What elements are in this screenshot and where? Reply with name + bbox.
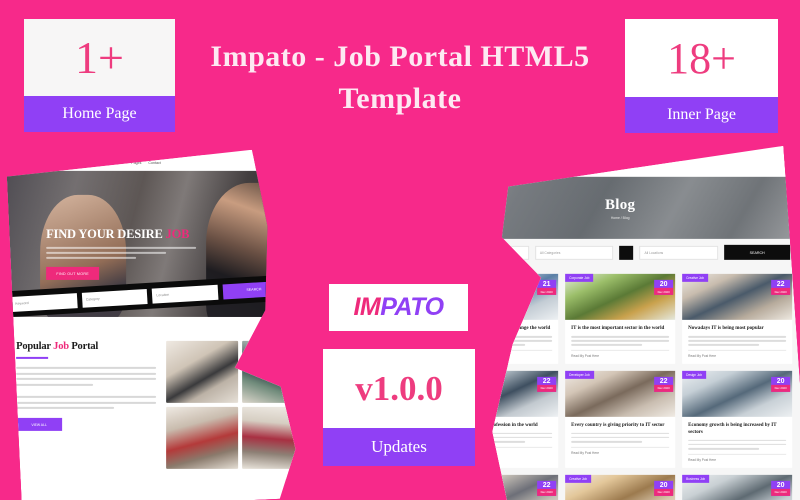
blog-card-date-month: Dec 2020 <box>654 488 673 495</box>
badge-home-page: 1+ Home Page <box>24 19 175 132</box>
badge-home-page-caption: Home Page <box>24 96 175 132</box>
photo-thumbnail <box>166 341 238 403</box>
text-line <box>16 396 156 398</box>
home-logo-part2: PATO <box>72 158 94 168</box>
blog-card-title[interactable]: Economy growth is being increased by IT … <box>688 422 786 436</box>
blog-card-body: Every country is giving priority to IT s… <box>565 417 675 455</box>
popular-title-part1: Popular <box>16 341 51 352</box>
blog-card-thumbnail: Business Job21Dec 2020 <box>454 274 558 320</box>
blog-card-category-tag[interactable]: Finance Job <box>454 474 473 482</box>
blog-hero-banner: Blog Home / Blog <box>454 177 800 239</box>
text-line <box>454 336 552 338</box>
blog-nav-item-5[interactable]: Contact <box>585 167 597 171</box>
home-mockup-navbar: Home Finance Blog IMPATO Curriculum Page… <box>6 155 322 171</box>
blog-card-date-day: 20 <box>654 480 673 488</box>
blog-card-date-day: 21 <box>537 280 556 288</box>
text-line <box>571 433 669 435</box>
text-line <box>571 441 642 443</box>
blog-card-date-month: Dec 2020 <box>654 288 673 295</box>
photo-thumbnail <box>166 407 238 469</box>
text-line <box>688 440 786 442</box>
blog-logo-part1: IM <box>500 164 509 174</box>
home-hero-search-bar: Keyword Category Location SEARCH <box>6 275 291 317</box>
blog-filter-location[interactable]: All Locations <box>640 245 719 259</box>
blog-card-body: Nowadays IT is being most popularRead My… <box>682 320 792 358</box>
page-title-line-1: Impato - Job Portal HTML5 <box>210 40 589 73</box>
popular-section-title: Popular Job Portal <box>16 341 156 352</box>
blog-card-date-day: 20 <box>771 377 790 385</box>
popular-section-photo-grid <box>166 341 314 469</box>
blog-card[interactable]: Corporate Job20Dec 2020IT is the most im… <box>565 274 675 364</box>
text-line <box>46 247 196 249</box>
popular-section-button[interactable]: VIEW ALL <box>16 418 62 431</box>
blog-card-thumbnail: Business Job20Dec 2020 <box>682 474 792 500</box>
popular-title-part2: Portal <box>71 341 98 352</box>
blog-card-category-tag[interactable]: Business Job <box>454 274 475 282</box>
blog-card-category-tag[interactable]: Design Job <box>682 371 706 379</box>
home-mockup-logo: IMPATO <box>63 158 94 168</box>
blog-card-title[interactable]: Nowadays IT is being most popular <box>688 325 786 332</box>
text-line <box>571 344 642 346</box>
blog-card-thumbnail: Developer Job22Dec 2020 <box>565 371 675 417</box>
blog-card-date-month: Dec 2020 <box>771 385 790 392</box>
text-line <box>571 336 669 338</box>
blog-card-date-month: Dec 2020 <box>771 488 790 495</box>
text-line <box>688 444 786 446</box>
text-line <box>16 407 114 409</box>
home-hero-title-main: FIND YOUR DESIRE <box>46 227 163 241</box>
blog-card-date-badge: 22Dec 2020 <box>771 280 790 295</box>
blog-card-date-day: 22 <box>654 377 673 385</box>
text-line <box>16 367 156 369</box>
blog-card-date-day: 20 <box>771 480 790 488</box>
blog-card-date-day: 22 <box>771 280 790 288</box>
blog-mockup-navbar: Home Jobs Blog IMPATO Curriculum Pages C… <box>454 161 800 177</box>
blog-card-read-more-link[interactable]: Read My Post Here <box>571 446 669 454</box>
blog-card[interactable]: Finance Job22Dec 2020IT skills for the f… <box>454 474 558 500</box>
badge-inner-page-count: 18+ <box>625 19 778 97</box>
badge-version: v1.0.0 Updates <box>323 349 475 466</box>
text-line <box>16 378 156 380</box>
text-line <box>454 344 525 346</box>
home-nav-item-2[interactable]: Blog <box>43 161 50 165</box>
blog-card-category-tag[interactable]: Creative Job <box>565 474 591 482</box>
popular-job-portal-section: Popular Job Portal VIEW ALL <box>6 317 322 479</box>
blog-card-body: Economy growth is being increased by IT … <box>682 417 792 462</box>
text-line <box>16 372 156 374</box>
blog-card-read-more-link[interactable]: Read My Post Here <box>571 350 669 358</box>
blog-card-date-badge: 20Dec 2020 <box>771 480 790 495</box>
blog-card-date-month: Dec 2020 <box>537 488 556 495</box>
blog-card-date-month: Dec 2020 <box>654 385 673 392</box>
blog-card[interactable]: Creative Job20Dec 2020Teamwork builds be… <box>565 474 675 500</box>
home-search-button[interactable]: SEARCH <box>223 280 286 299</box>
blog-card-title[interactable]: The next generation IT will change the w… <box>454 325 552 332</box>
blog-card-date-day: 22 <box>537 377 556 385</box>
blog-card-date-badge: 20Dec 2020 <box>654 480 673 495</box>
home-hero-title-highlight: JOB <box>166 227 190 241</box>
home-page-mockup: Home Finance Blog IMPATO Curriculum Page… <box>6 147 322 500</box>
blog-logo-part2: PATO <box>509 164 531 174</box>
blog-card-body: IT is the most important sector in the w… <box>565 320 675 358</box>
blog-card-date-badge: 20Dec 2020 <box>654 280 673 295</box>
home-search-field-location[interactable]: Location <box>152 284 218 303</box>
blog-filter-icon-button[interactable] <box>620 245 634 259</box>
text-line <box>571 340 669 342</box>
blog-card-date-month: Dec 2020 <box>537 288 556 295</box>
blog-nav-item-0[interactable]: Home <box>454 167 458 171</box>
page-title: Impato - Job Portal HTML5 Template <box>180 36 620 120</box>
home-nav-item-0[interactable]: Home <box>6 161 16 165</box>
brand-logo-badge: IMPATO <box>329 284 468 331</box>
home-hero-description <box>46 247 196 259</box>
blog-card-date-month: Dec 2020 <box>537 385 556 392</box>
blog-nav-item-1[interactable]: Jobs <box>465 167 473 171</box>
blog-filter-search-button[interactable]: SEARCH <box>724 245 790 260</box>
blog-card-thumbnail: Creative Job22Dec 2020 <box>682 274 792 320</box>
brand-logo-part2: PATO <box>380 293 443 321</box>
blog-card-title[interactable]: IT is the most important sector in the w… <box>571 325 669 332</box>
blog-nav-item-3[interactable]: Curriculum <box>544 167 561 171</box>
badge-inner-page-caption: Inner Page <box>625 97 778 133</box>
blog-page-mockup: Home Jobs Blog IMPATO Curriculum Pages C… <box>454 146 800 500</box>
home-hero-cta-button[interactable]: FIND OUT MORE <box>46 267 99 280</box>
text-line <box>688 336 786 338</box>
text-line <box>46 257 136 259</box>
blog-filter-bar: Search Keyword All Categories All Locati… <box>454 239 800 266</box>
badge-version-caption: Updates <box>323 428 475 466</box>
home-hero-banner: FIND YOUR DESIRE JOB FIND OUT MORE Keywo… <box>6 171 322 317</box>
blog-card-thumbnail: Design Job20Dec 2020 <box>682 371 792 417</box>
home-search-field-category[interactable]: Category <box>81 288 147 307</box>
blog-card-thumbnail: Creative Job20Dec 2020 <box>565 474 675 500</box>
blog-card-category-tag[interactable]: Developer Job <box>565 371 594 379</box>
text-line <box>688 340 786 342</box>
badge-home-page-count: 1+ <box>24 19 175 96</box>
blog-card-read-more-link[interactable]: Read My Post Here <box>688 453 786 461</box>
blog-card-read-more-link[interactable]: Read My Post Here <box>688 350 786 358</box>
blog-hero-title: Blog <box>605 196 635 213</box>
blog-card-date-month: Dec 2020 <box>771 288 790 295</box>
text-line <box>688 448 759 450</box>
blog-card-date-day: 20 <box>654 280 673 288</box>
blog-card-category-tag[interactable]: Corporate Job <box>565 274 593 282</box>
blog-card[interactable]: Developer Job22Dec 2020Every country is … <box>565 371 675 468</box>
text-line <box>16 401 156 403</box>
blog-card[interactable]: Design Job20Dec 2020Economy growth is be… <box>682 371 792 468</box>
home-nav-item-3[interactable]: Curriculum <box>107 161 124 165</box>
text-line <box>688 344 759 346</box>
blog-card-category-tag[interactable]: Creative Job <box>682 274 708 282</box>
blog-card-category-tag[interactable]: Business Job <box>682 474 709 482</box>
blog-card-thumbnail: Corporate Job20Dec 2020 <box>565 274 675 320</box>
photo-thumbnail <box>242 407 314 469</box>
page-title-line-2: Template <box>339 82 462 115</box>
text-line <box>16 383 93 385</box>
blog-card-date-day: 22 <box>537 480 556 488</box>
blog-card-date-badge: 21Dec 2020 <box>537 280 556 295</box>
home-nav-item-4[interactable]: Pages <box>131 161 141 165</box>
brand-logo: IMPATO <box>353 293 443 322</box>
home-nav-item-1[interactable]: Finance <box>23 161 36 165</box>
badge-inner-page: 18+ Inner Page <box>625 19 778 133</box>
blog-card-title[interactable]: Every country is giving priority to IT s… <box>571 422 669 429</box>
blog-card-date-badge: 22Dec 2020 <box>654 377 673 392</box>
blog-card[interactable]: Creative Job22Dec 2020Nowadays IT is bei… <box>682 274 792 364</box>
blog-card-thumbnail: Finance Job22Dec 2020 <box>454 474 558 500</box>
brand-logo-part1: IM <box>353 293 380 321</box>
blog-card-grid: Business Job21Dec 2020The next generatio… <box>454 266 800 500</box>
popular-section-paragraph-2 <box>16 396 156 409</box>
blog-breadcrumb: Home / Blog <box>611 215 630 219</box>
photo-thumbnail <box>242 341 314 403</box>
popular-title-highlight: Job <box>53 341 69 352</box>
blog-card-date-badge: 20Dec 2020 <box>771 377 790 392</box>
blog-filter-category[interactable]: All Categories <box>535 245 614 259</box>
home-logo-part1: IM <box>63 158 72 168</box>
badge-version-number: v1.0.0 <box>323 349 475 428</box>
home-nav-item-5[interactable]: Contact <box>148 161 160 165</box>
text-line <box>571 437 669 439</box>
blog-nav-item-2[interactable]: Blog <box>479 167 486 171</box>
text-line <box>46 252 166 254</box>
home-search-field-keyword[interactable]: Keyword <box>11 293 77 312</box>
blog-card-date-badge: 22Dec 2020 <box>537 480 556 495</box>
section-underline <box>16 357 48 359</box>
blog-mockup-logo: IMPATO <box>500 164 531 174</box>
blog-card[interactable]: Business Job20Dec 2020Remote work and th… <box>682 474 792 500</box>
popular-section-paragraph-1 <box>16 367 156 386</box>
blog-nav-item-4[interactable]: Pages <box>568 167 578 171</box>
home-hero-title: FIND YOUR DESIRE JOB <box>46 227 322 242</box>
blog-card-date-badge: 22Dec 2020 <box>537 377 556 392</box>
text-line <box>454 340 552 342</box>
blog-filter-keyword[interactable]: Search Keyword <box>454 245 529 259</box>
